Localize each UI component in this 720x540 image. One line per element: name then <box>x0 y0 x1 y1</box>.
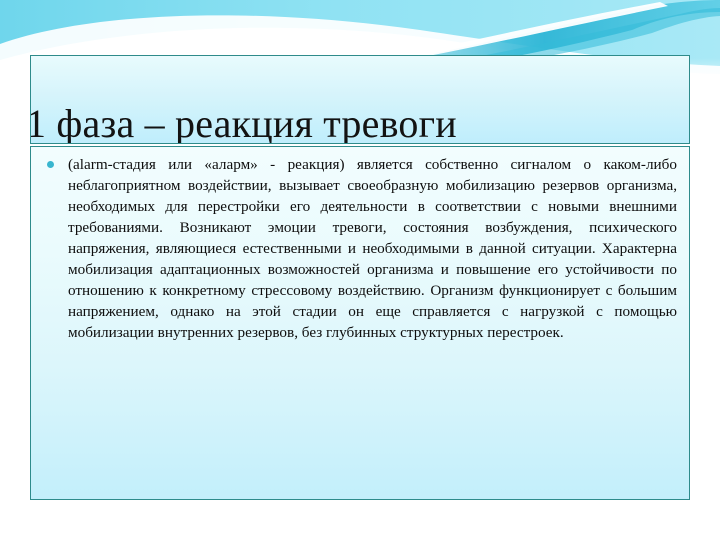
bullet-paragraph: (alarm-стадия или «аларм» - реакция) явл… <box>45 154 677 343</box>
slide-canvas: 1 фаза – реакция тревоги (alarm-стадия и… <box>0 0 720 540</box>
page-title: 1 фаза – реакция тревоги <box>30 103 690 144</box>
content-placeholder[interactable]: (alarm-стадия или «аларм» - реакция) явл… <box>30 146 690 500</box>
title-placeholder[interactable]: 1 фаза – реакция тревоги <box>30 55 690 144</box>
round-bullet-icon <box>47 161 54 168</box>
list-item: (alarm-стадия или «аларм» - реакция) явл… <box>31 147 689 343</box>
